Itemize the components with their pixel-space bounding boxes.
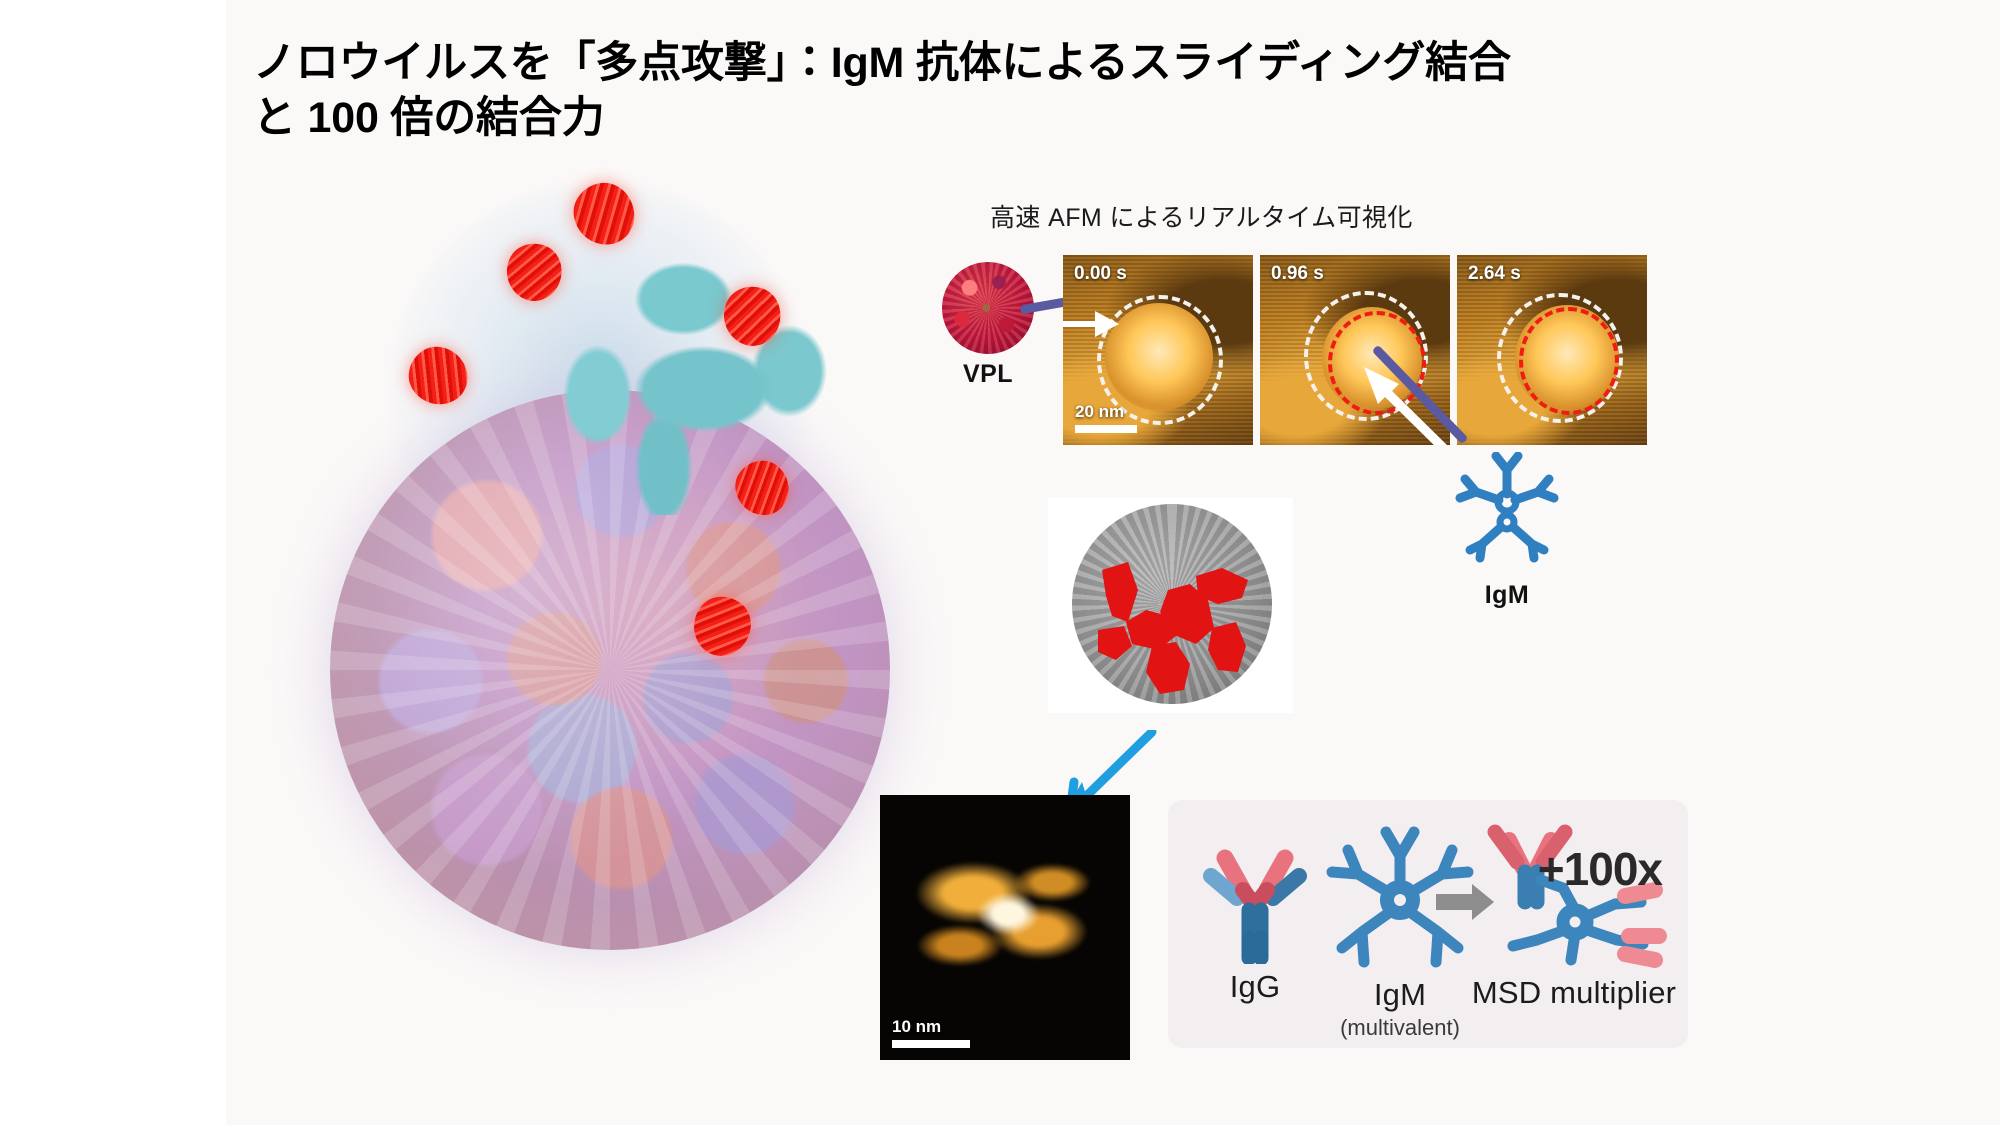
zoom-scalebar-line <box>892 1040 970 1048</box>
igm-schematic-label: IgM <box>1310 977 1490 1013</box>
afm-panel: 0.00 s 20 nm <box>1063 255 1253 445</box>
zoom-scalebar: 10 nm <box>892 1017 970 1048</box>
antibody-comparison-panel: IgG IgM (multivalent) <box>1168 800 1688 1048</box>
vpl-legend: VPL <box>928 262 1048 389</box>
zoom-scalebar-label: 10 nm <box>892 1017 970 1037</box>
igm-item: IgM (multivalent) <box>1310 822 1490 1041</box>
title-line-2: と 100 倍の結合力 <box>253 91 1613 146</box>
igg-item: IgG <box>1190 832 1320 1005</box>
afm-zoom-panel: 10 nm <box>880 795 1130 1060</box>
capsid-footprint-panel <box>1048 498 1293 713</box>
white-arrow-icon <box>1063 307 1123 341</box>
page-title: ノロウイルスを「多点攻撃」：IgM 抗体によるスライディング結合 と 100 倍… <box>253 36 1613 146</box>
igg-label: IgG <box>1190 969 1320 1005</box>
igm-sublabel: (multivalent) <box>1310 1015 1490 1041</box>
capsid-protruding-domains <box>512 215 842 515</box>
igm-pentamer-icon <box>1448 452 1566 570</box>
afm-timestamp: 0.96 s <box>1271 263 1324 285</box>
afm-zoom-particle <box>894 830 1114 1005</box>
afm-scalebar: 20 nm <box>1075 402 1137 433</box>
afm-timestamp: 2.64 s <box>1468 263 1521 285</box>
afm-section-heading: 高速 AFM によるリアルタイム可視化 <box>990 198 1413 234</box>
afm-scalebar-line <box>1075 425 1137 433</box>
afm-panel: 0.96 s <box>1260 255 1450 445</box>
afm-red-dashed-circle <box>1519 307 1619 415</box>
igg-antibody-icon <box>1203 832 1307 964</box>
msd-label: MSD multiplier <box>1464 975 1684 1011</box>
norovirus-illustration <box>300 175 960 985</box>
infographic-canvas: ノロウイルスを「多点攻撃」：IgM 抗体によるスライディング結合 と 100 倍… <box>0 0 2000 1125</box>
title-line-1: ノロウイルスを「多点攻撃」：IgM 抗体によるスライディング結合 <box>253 36 1613 91</box>
afm-scalebar-label: 20 nm <box>1075 402 1137 422</box>
igm-footprint-overlay <box>1072 504 1272 704</box>
fold-increase-badge: +100x <box>1538 842 1662 896</box>
afm-panel-strip: 0.00 s 20 nm 0.96 s 2.64 s <box>1063 255 1647 445</box>
afm-panel: 2.64 s <box>1457 255 1647 445</box>
igm-legend: IgM <box>1432 452 1582 610</box>
afm-timestamp: 0.00 s <box>1074 263 1127 285</box>
vpl-label: VPL <box>928 360 1048 389</box>
capsid-surface-model <box>1072 504 1272 704</box>
igm-label: IgM <box>1432 581 1582 610</box>
